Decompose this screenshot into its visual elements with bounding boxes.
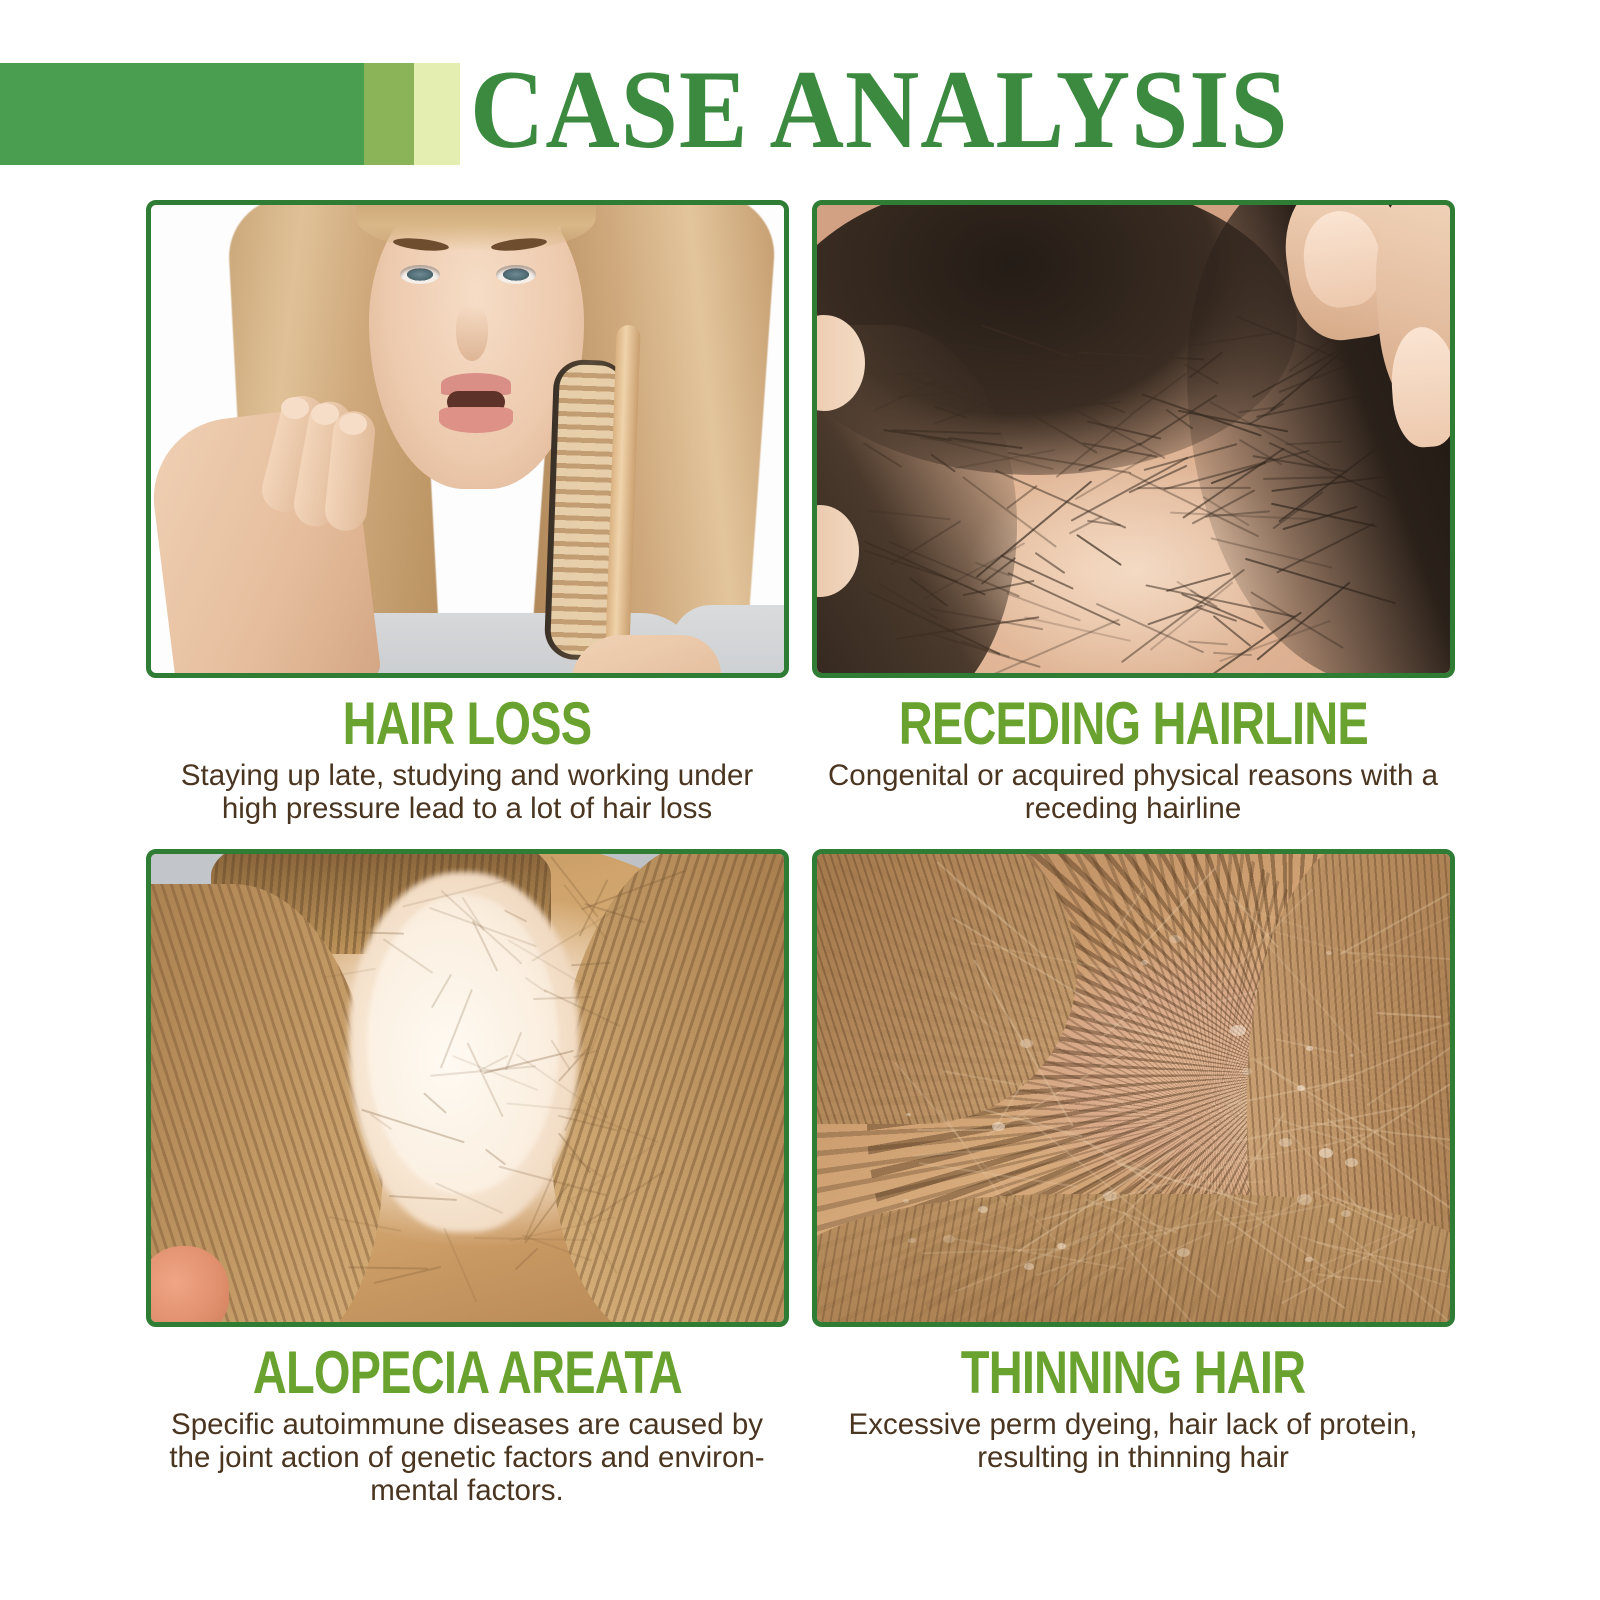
scalp-flake: [1141, 960, 1148, 965]
case-card-alopecia-areata[interactable]: ALOPECIA AREATA Specific autoimmune dise…: [146, 849, 789, 1507]
case-card-receding-hairline[interactable]: RECEDING HAIRLINE Congenital or acquired…: [812, 200, 1455, 825]
fingernail-3: [339, 413, 367, 435]
photo-frame-receding-hairline: [812, 200, 1455, 678]
lower-lip: [439, 407, 513, 433]
page-header: CASE ANALYSIS: [0, 0, 1600, 200]
card-row-bottom: ALOPECIA AREATA Specific autoimmune dise…: [0, 849, 1600, 1507]
scalp-flake: [1297, 1085, 1305, 1091]
scalp-flake: [1305, 1257, 1313, 1262]
page-title: CASE ANALYSIS: [470, 54, 1491, 166]
case-card-grid: HAIR LOSS Staying up late, studying and …: [0, 200, 1600, 1507]
card-title-thinning-hair: THINNING HAIR: [961, 1341, 1305, 1404]
case-card-thinning-hair[interactable]: THINNING HAIR Excessive perm dyeing, hai…: [812, 849, 1455, 1507]
scalp-flake: [1103, 1191, 1117, 1201]
scalp-flake: [1177, 1248, 1190, 1257]
hair-strand: [464, 546, 482, 609]
photo-receding-hairline: [817, 205, 1450, 673]
scalp-flake: [1242, 1068, 1252, 1075]
card-caption-hair-loss: Staying up late, studying and working un…: [157, 759, 777, 825]
scalp-flake: [903, 1199, 909, 1203]
hair-strand: [462, 473, 496, 596]
scalp-flake: [1279, 1138, 1292, 1147]
scalp-flake: [1169, 935, 1181, 943]
bald-patch-core: [367, 894, 559, 1194]
header-banner-bars: [0, 63, 460, 165]
nose: [456, 305, 488, 361]
eye-left: [400, 265, 440, 284]
banner-segment-pale: [414, 63, 460, 165]
scalp-flake: [1350, 1054, 1354, 1057]
fingernail-1: [281, 397, 309, 419]
case-card-hair-loss[interactable]: HAIR LOSS Staying up late, studying and …: [146, 200, 789, 825]
photo-frame-hair-loss: [146, 200, 789, 678]
card-caption-thinning-hair: Excessive perm dyeing, hair lack of prot…: [823, 1408, 1443, 1474]
card-title-alopecia-areata: ALOPECIA AREATA: [252, 1341, 681, 1404]
scalp-flake: [1024, 1263, 1034, 1270]
thicker-hair-bottom: [817, 1194, 1450, 1322]
card-caption-receding-hairline: Congenital or acquired physical reasons …: [823, 759, 1443, 825]
scalp-flake: [906, 1113, 911, 1116]
banner-segment-medium: [364, 63, 414, 165]
scalp-flake: [1345, 1158, 1358, 1167]
scalp-flake: [1230, 1025, 1246, 1036]
scalp-flake: [1326, 951, 1332, 955]
scalp-flake: [1297, 1194, 1312, 1205]
scalp-flake: [978, 1206, 988, 1213]
scalp-flake: [943, 1235, 955, 1243]
photo-frame-alopecia-areata: [146, 849, 789, 1327]
card-title-receding-hairline: RECEDING HAIRLINE: [898, 692, 1367, 755]
photo-frame-thinning-hair: [812, 849, 1455, 1327]
scalp-flake: [992, 1122, 1005, 1131]
hair-strand: [466, 502, 502, 580]
photo-hair-loss: [151, 205, 784, 673]
eye-right: [496, 265, 536, 284]
photo-thinning-hair: [817, 854, 1450, 1322]
scalp-flake: [1328, 1218, 1335, 1223]
scalp-flake: [1319, 1148, 1333, 1158]
card-caption-alopecia-areata: Specific autoimmune diseases are caused …: [157, 1408, 777, 1507]
fingernail-2: [311, 403, 339, 425]
card-title-hair-loss: HAIR LOSS: [343, 692, 592, 755]
scalp-flake: [1057, 1243, 1066, 1249]
card-row-top: HAIR LOSS Staying up late, studying and …: [0, 200, 1600, 825]
scalp-flake: [908, 1238, 916, 1243]
scalp-flake: [1341, 1210, 1351, 1217]
scalp-flake: [1306, 1046, 1313, 1051]
scalp-flake: [1020, 1039, 1033, 1048]
photo-alopecia-areata: [151, 854, 784, 1322]
hair-strand: [442, 508, 505, 519]
banner-segment-dark: [0, 63, 364, 165]
